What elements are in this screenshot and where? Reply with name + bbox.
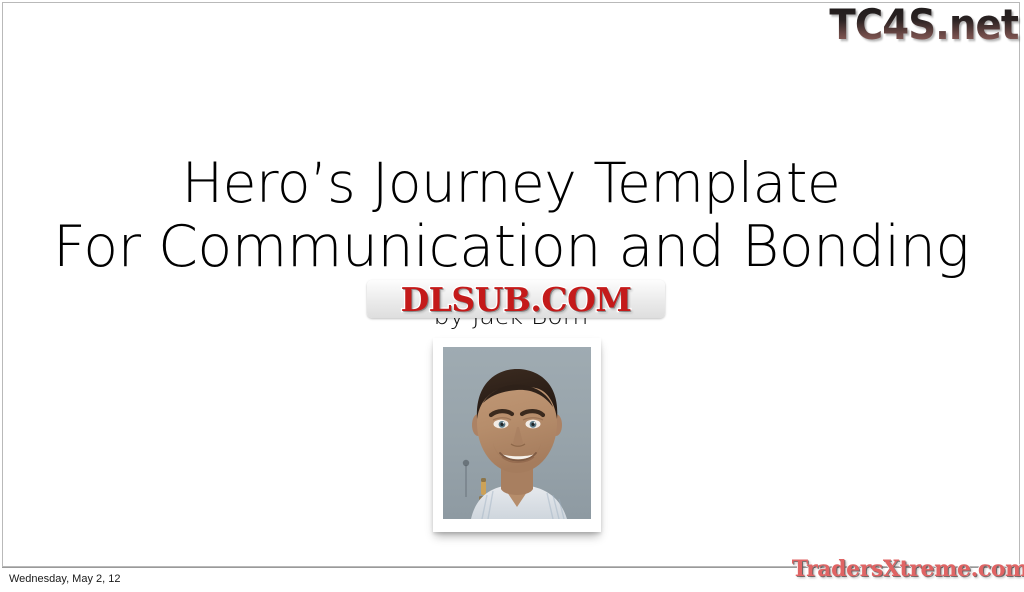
tradersxtreme-watermark-text: TradersXtreme.com [792, 557, 1024, 581]
tc4s-watermark-text: TC4S.net [829, 3, 1018, 47]
portrait-photo-icon [443, 347, 591, 519]
slide-title: Hero’s Journey Template For Communicatio… [3, 151, 1019, 279]
footer-date: Wednesday, May 2, 12 [9, 572, 121, 586]
avatar [443, 347, 591, 519]
author-photo-frame [433, 338, 601, 532]
title-line-1: Hero’s Journey Template [3, 151, 1019, 215]
presentation-slide: Hero’s Journey Template For Communicatio… [2, 2, 1020, 567]
tradersxtreme-watermark: TradersXtreme.com [792, 556, 1024, 582]
tc4s-watermark: TC4S.net [813, 2, 1018, 48]
dlsub-watermark: DLSUB.COM [367, 280, 665, 318]
title-line-2: For Communication and Bonding [3, 215, 1019, 279]
dlsub-watermark-text: DLSUB.COM [401, 283, 632, 316]
slide-screen: Hero’s Journey Template For Communicatio… [0, 0, 1024, 592]
